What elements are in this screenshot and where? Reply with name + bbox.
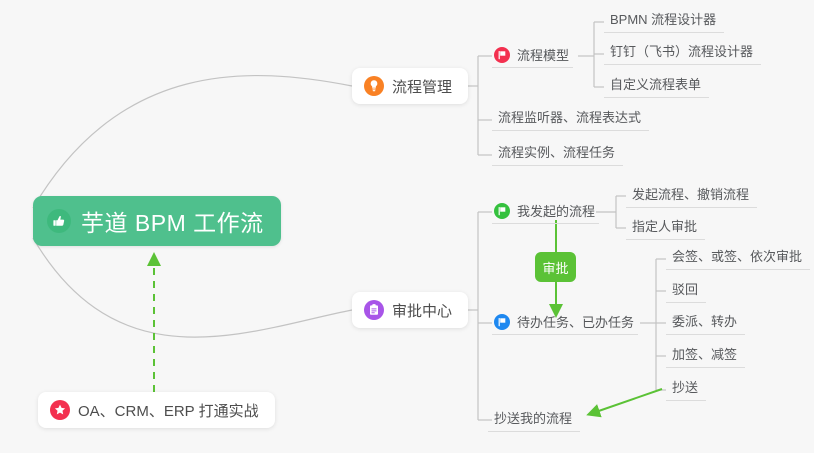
leaf-delegate-transfer[interactable]: 委派、转办 xyxy=(666,312,745,335)
node-process-model[interactable]: 流程模型 xyxy=(492,44,573,68)
node-label: 我发起的流程 xyxy=(517,201,595,220)
root-node[interactable]: 芋道 BPM 工作流 xyxy=(33,196,281,246)
lightbulb-icon xyxy=(364,76,384,96)
leaf-countersign-modes[interactable]: 会签、或签、依次审批 xyxy=(666,247,810,270)
leaf-dingtalk-designer[interactable]: 钉钉（飞书）流程设计器 xyxy=(604,42,761,65)
branch-label: 审批中心 xyxy=(392,300,452,321)
annotation-chip-label: 审批 xyxy=(542,258,568,277)
star-badge-icon xyxy=(50,400,70,420)
node-label: 待办任务、已办任务 xyxy=(517,312,634,331)
flag-icon xyxy=(494,47,510,63)
leaf-add-remove-sign[interactable]: 加签、减签 xyxy=(666,345,745,368)
leaf-listener-expression[interactable]: 流程监听器、流程表达式 xyxy=(492,108,649,131)
node-my-initiated-process[interactable]: 我发起的流程 xyxy=(492,200,599,224)
branch-node-process-management[interactable]: 流程管理 xyxy=(352,68,468,104)
clipboard-icon xyxy=(364,300,384,320)
leaf-bpmn-designer[interactable]: BPMN 流程设计器 xyxy=(604,10,724,33)
branch-node-approval-center[interactable]: 审批中心 xyxy=(352,292,468,328)
node-todo-done-tasks[interactable]: 待办任务、已办任务 xyxy=(492,311,638,335)
root-label: 芋道 BPM 工作流 xyxy=(81,204,264,238)
node-label: 流程模型 xyxy=(517,45,569,64)
leaf-cc-to-me-process[interactable]: 抄送我的流程 xyxy=(488,409,580,432)
leaf-instance-task[interactable]: 流程实例、流程任务 xyxy=(492,143,623,166)
leaf-carbon-copy[interactable]: 抄送 xyxy=(666,378,706,401)
leaf-assignee-approval[interactable]: 指定人审批 xyxy=(626,217,705,240)
branch-label: 流程管理 xyxy=(392,76,452,97)
callout-card-integration[interactable]: OA、CRM、ERP 打通实战 xyxy=(38,392,275,428)
flag-icon xyxy=(494,314,510,330)
callout-card-label: OA、CRM、ERP 打通实战 xyxy=(78,400,259,421)
annotation-chip-approval[interactable]: 审批 xyxy=(535,252,576,282)
thumbs-up-icon xyxy=(47,209,71,233)
mindmap-canvas: 芋道 BPM 工作流 流程管理 审批中心 xyxy=(0,0,814,453)
leaf-custom-form[interactable]: 自定义流程表单 xyxy=(604,75,709,98)
flag-icon xyxy=(494,203,510,219)
leaf-start-cancel-process[interactable]: 发起流程、撤销流程 xyxy=(626,185,757,208)
leaf-reject[interactable]: 驳回 xyxy=(666,280,706,303)
